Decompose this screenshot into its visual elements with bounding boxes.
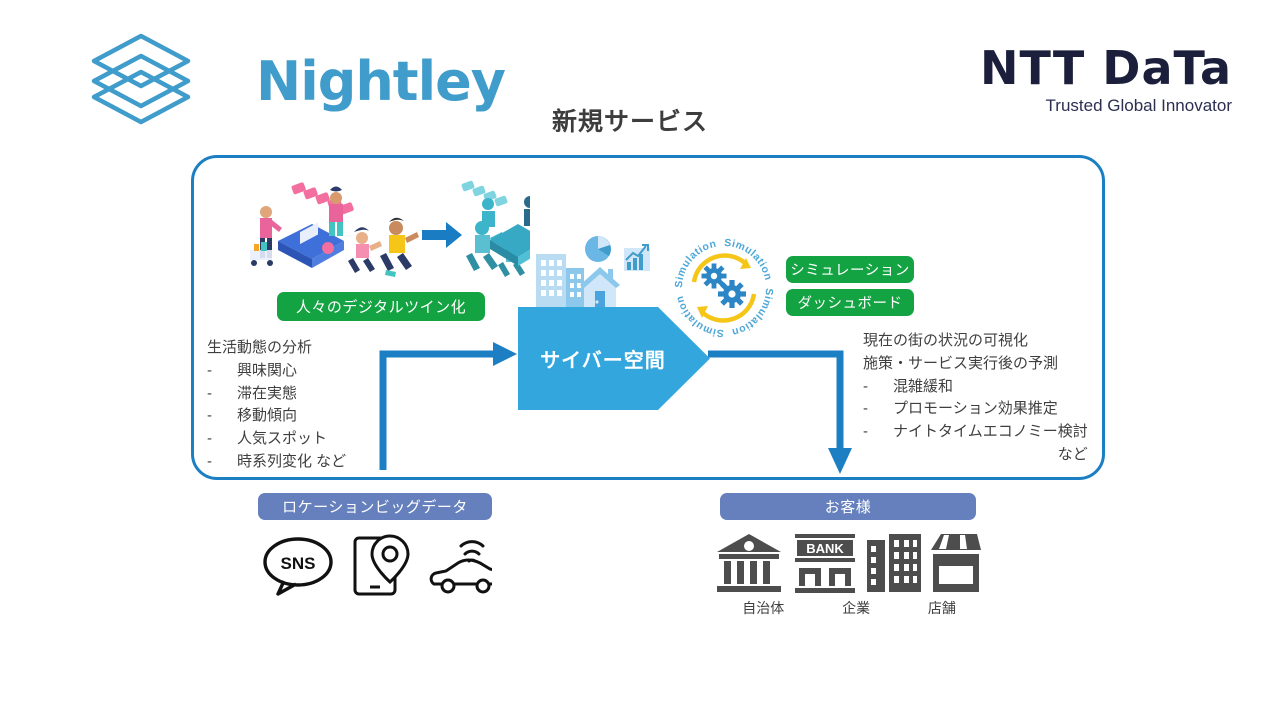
bullet-mark: - <box>207 383 237 406</box>
sns-label: SNS <box>281 554 316 573</box>
connected-car-icon <box>431 542 492 592</box>
bullet-mark: - <box>863 398 893 421</box>
people-to-digital-twin-illustration <box>240 178 530 288</box>
right-bullet-3-label: ナイトタイムエコノミー検討 <box>893 421 1088 444</box>
cyber-space-label-text: サイバー空間 <box>540 344 666 373</box>
gears-icon <box>702 264 747 309</box>
right-bullet-2: - プロモーション効果推定 <box>863 398 1088 421</box>
bullet-mark: - <box>207 428 237 451</box>
customer-labels-row: 自治体 企業 店舗 <box>715 598 983 618</box>
badge-simulation: シミュレーション <box>786 256 914 283</box>
right-footer-label: など <box>863 444 1088 467</box>
bank-icon: BANK <box>795 534 855 593</box>
left-connector-arrow <box>375 340 520 470</box>
buildings-icon <box>536 254 584 311</box>
right-heading-1: 現在の街の状況の可視化 <box>863 330 1088 353</box>
bullet-mark: - <box>207 360 237 383</box>
government-building-icon <box>717 534 781 592</box>
left-bullet-2: - 滞在実態 <box>207 383 346 406</box>
badge-simulation-label: シミュレーション <box>790 259 909 280</box>
customer-label-government: 自治体 <box>715 598 811 618</box>
left-bullet-4-label: 人気スポット <box>237 428 327 451</box>
left-bullet-2-label: 滞在実態 <box>237 383 297 406</box>
customer-label-store: 店舗 <box>901 598 983 618</box>
bullet-mark: - <box>863 421 893 444</box>
badge-customer: お客様 <box>720 493 976 520</box>
right-heading-2: 施策・サービス実行後の予測 <box>863 353 1088 376</box>
right-bullet-2-label: プロモーション効果推定 <box>893 398 1058 421</box>
data-source-icons-group: SNS <box>262 534 492 596</box>
phone-location-pin-icon <box>355 536 408 594</box>
simulation-circle: Simulation Simulation Simulation Simulat… <box>672 236 776 340</box>
badge-dashboard: ダッシュボード <box>786 289 914 316</box>
left-bullet-3-label: 移動傾向 <box>237 405 297 428</box>
right-bullet-3: - ナイトタイムエコノミー検討 <box>863 421 1088 444</box>
simulation-ring-text-4: Simulation <box>674 294 725 339</box>
badge-customer-label: お客様 <box>825 496 872 517</box>
shop-icon <box>931 534 981 592</box>
page-title-text: 新規サービス <box>552 102 708 138</box>
pie-chart-icon <box>585 236 611 262</box>
left-analysis-text-block: 生活動態の分析 - 興味関心 - 滞在実態 - 移動傾向 - 人気スポット - … <box>207 337 346 474</box>
right-connector-arrow <box>708 340 853 475</box>
badge-location-big-data: ロケーションビッグデータ <box>258 493 492 520</box>
left-bullet-4: - 人気スポット <box>207 428 346 451</box>
right-bullet-1: - 混雑緩和 <box>863 376 1088 399</box>
badge-dashboard-label: ダッシュボード <box>798 292 903 313</box>
left-bullet-5: - 時系列変化 など <box>207 451 346 474</box>
left-bullet-5-label: 時系列変化 など <box>237 451 346 474</box>
left-bullet-1-label: 興味関心 <box>237 360 297 383</box>
bullet-mark: - <box>863 376 893 399</box>
cyber-space-label: サイバー空間 <box>518 307 688 410</box>
office-building-icon <box>867 534 921 592</box>
right-bullet-1-label: 混雑緩和 <box>893 376 953 399</box>
digital-twin-badge-label: 人々のデジタルツイン化 <box>296 296 466 317</box>
left-bullet-3: - 移動傾向 <box>207 405 346 428</box>
house-icon <box>580 267 620 311</box>
right-arrow-icon <box>422 222 462 248</box>
nttdata-wordmark: NTT DaTa <box>942 44 1232 92</box>
badge-location-big-data-label: ロケーションビッグデータ <box>282 496 468 517</box>
bullet-mark: - <box>207 451 237 474</box>
simulation-ring-text-2: Simulation <box>724 237 775 282</box>
bullet-mark: - <box>207 405 237 428</box>
svg-text:Simulation: Simulation <box>674 294 725 339</box>
page-title: 新規サービス <box>0 102 1280 138</box>
svg-text:Simulation: Simulation <box>724 237 775 282</box>
city-icons-group <box>532 236 652 311</box>
customer-icons-group: BANK <box>715 532 983 594</box>
bar-chart-icon <box>624 245 650 271</box>
left-bullet-1: - 興味関心 <box>207 360 346 383</box>
svg-text:BANK: BANK <box>806 541 844 556</box>
left-heading: 生活動態の分析 <box>207 337 346 360</box>
right-output-text-block: 現在の街の状況の可視化 施策・サービス実行後の予測 - 混雑緩和 - プロモーシ… <box>863 330 1088 467</box>
customer-label-company: 企業 <box>811 598 900 618</box>
digital-twin-badge: 人々のデジタルツイン化 <box>277 292 485 321</box>
